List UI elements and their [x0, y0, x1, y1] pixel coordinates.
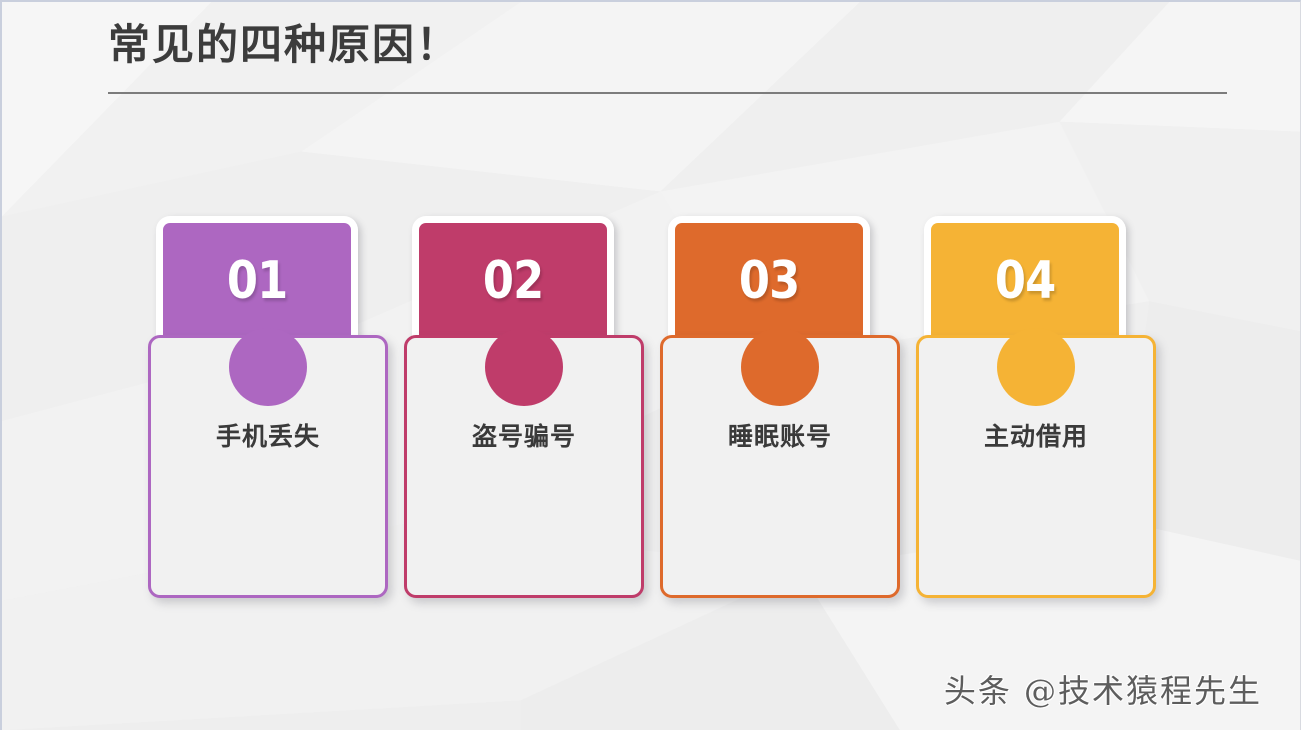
- page-title: 常见的四种原因！: [108, 14, 1228, 76]
- card-number: 02: [483, 255, 544, 307]
- title-divider: [108, 92, 1227, 94]
- card-number-tab: 01: [156, 216, 358, 342]
- card-label: 睡眠账号: [663, 417, 897, 453]
- reason-card-02[interactable]: 02 盗号骗号: [404, 216, 644, 598]
- card-number: 03: [739, 255, 800, 307]
- card-number-tab: 03: [668, 216, 870, 342]
- watermark: 头条 @技术猿程先生: [944, 666, 1262, 712]
- card-bulge: [229, 328, 307, 406]
- reason-card-03[interactable]: 03 睡眠账号: [660, 216, 900, 598]
- reason-card-list: 01 手机丢失 02 盗号骗号 03 睡眠账号: [148, 216, 1159, 598]
- card-number: 01: [227, 255, 288, 307]
- reason-card-01[interactable]: 01 手机丢失: [148, 216, 388, 598]
- card-label: 手机丢失: [151, 417, 385, 453]
- card-bulge: [741, 328, 819, 406]
- card-bulge: [997, 328, 1075, 406]
- card-number-tab: 02: [412, 216, 614, 342]
- card-number-tab: 04: [924, 216, 1126, 342]
- slide-canvas: 常见的四种原因！ 01 手机丢失 02 盗号骗号 03: [0, 0, 1301, 730]
- card-bulge: [485, 328, 563, 406]
- card-label: 主动借用: [919, 417, 1153, 453]
- reason-card-04[interactable]: 04 主动借用: [916, 216, 1156, 598]
- slide-header: 常见的四种原因！: [108, 14, 1228, 76]
- card-label: 盗号骗号: [407, 417, 641, 453]
- card-number: 04: [995, 255, 1056, 307]
